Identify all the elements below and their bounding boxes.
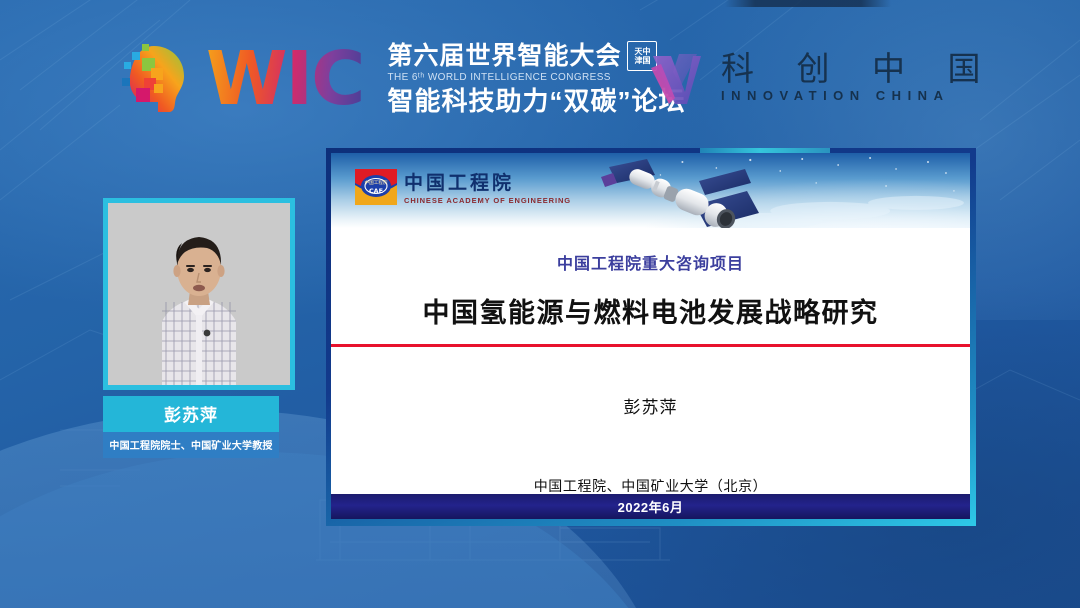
innovation-china-title-en: INNOVATION CHINA xyxy=(721,88,996,103)
innovation-china-title-cn: 科 创 中 国 xyxy=(721,51,996,87)
speaker-video-feed xyxy=(108,203,290,385)
wic-forum-title: 智能科技助力“双碳”论坛 xyxy=(387,86,685,117)
cae-logo: 中国工程院 CAE 中国工程院 CHINESE ACADEMY OF ENGIN… xyxy=(355,169,571,205)
top-edge-bar xyxy=(725,0,891,7)
speaker-name-plate: 彭苏萍 中国工程院院士、中国矿业大学教授 xyxy=(103,396,279,458)
spacecraft-illustration xyxy=(599,157,861,228)
wic-head-icon xyxy=(118,38,196,120)
slide-speaker-name: 彭苏萍 xyxy=(331,393,970,418)
svg-text:中国工程院: 中国工程院 xyxy=(365,179,388,186)
slide-banner: 中国工程院 CAE 中国工程院 CHINESE ACADEMY OF ENGIN… xyxy=(331,153,970,228)
header-bar: WIC 第六届世界智能大会 天中 津国 THE 6ᵗʰ WORLD INTELL… xyxy=(0,34,1080,138)
presentation-slide: 中国工程院 CAE 中国工程院 CHINESE ACADEMY OF ENGIN… xyxy=(331,153,970,519)
slide-body: 中国工程院重大咨询项目 中国氢能源与燃料电池发展战略研究 彭苏萍 中国工程院、中… xyxy=(331,228,970,519)
wic-congress-title-cn: 第六届世界智能大会 xyxy=(387,42,621,70)
speaker-name: 彭苏萍 xyxy=(103,396,279,432)
innovation-china-logo-block: 科 创 中 国 INNOVATION CHINA xyxy=(645,46,996,108)
presentation-stage: WIC 第六届世界智能大会 天中 津国 THE 6ᵗʰ WORLD INTELL… xyxy=(0,0,1080,608)
speaker-video-panel[interactable] xyxy=(103,198,295,390)
cae-name-en: CHINESE ACADEMY OF ENGINEERING xyxy=(404,196,571,205)
wic-congress-title-en: THE 6ᵗʰ WORLD INTELLIGENCE CONGRESS xyxy=(387,71,685,85)
title-red-rule xyxy=(331,344,970,347)
slide-date-bar: 2022年6月 xyxy=(331,492,970,519)
slide-frame[interactable]: 中国工程院 CAE 中国工程院 CHINESE ACADEMY OF ENGIN… xyxy=(326,148,976,526)
wic-logo-block: WIC 第六届世界智能大会 天中 津国 THE 6ᵗʰ WORLD INTELL… xyxy=(118,38,685,120)
cae-badge-icon: 中国工程院 CAE xyxy=(355,169,397,205)
slide-title: 中国氢能源与燃料电池发展战略研究 xyxy=(331,291,970,330)
slide-subtitle: 中国工程院重大咨询项目 xyxy=(331,228,970,274)
wic-text-block: 第六届世界智能大会 天中 津国 THE 6ᵗʰ WORLD INTELLIGEN… xyxy=(387,41,685,118)
wic-wordmark: WIC xyxy=(206,42,363,116)
cae-name-cn: 中国工程院 xyxy=(404,174,571,193)
speaker-role: 中国工程院院士、中国矿业大学教授 xyxy=(103,432,279,458)
innovation-china-mark-icon xyxy=(645,46,707,108)
svg-text:CAE: CAE xyxy=(369,187,383,195)
